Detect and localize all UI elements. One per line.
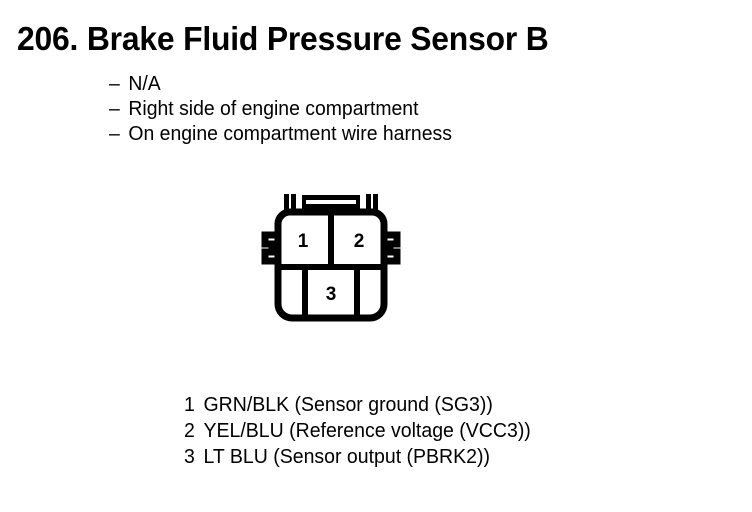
connector-top-ring-lower-bar: [302, 204, 360, 209]
description-item: –N/A: [109, 72, 652, 97]
description-item-label: Right side of engine compartment: [128, 98, 418, 120]
connector-bottom-divider-left: [302, 267, 308, 318]
connector-top-ring-left-edge: [302, 195, 306, 209]
connector-top-post-left: [284, 194, 289, 211]
description-item: –On engine compartment wire harness: [109, 122, 652, 147]
description-list: –N/A –Right side of engine compartment –…: [109, 72, 669, 147]
connector-pin-number-2: 2: [354, 231, 365, 252]
pin-legend-row: 2YEL/BLU (Reference voltage (VCC3)): [184, 418, 531, 444]
connector-top-divider: [328, 212, 334, 267]
connector-top-post-right-outer: [373, 194, 378, 211]
dash-bullet-icon: –: [109, 97, 128, 122]
connector-diagram: 1 2 3: [255, 190, 430, 338]
pin-legend: 1GRN/BLK (Sensor ground (SG3)) 2YEL/BLU …: [184, 392, 540, 470]
description-item-label: On engine compartment wire harness: [128, 123, 451, 145]
connector-top-ring-upper-bar: [302, 195, 360, 200]
pin-legend-row: 1GRN/BLK (Sensor ground (SG3)): [184, 392, 531, 418]
description-item-label: N/A: [128, 73, 160, 95]
description-item: –Right side of engine compartment: [109, 97, 652, 122]
pin-legend-text: GRN/BLK (Sensor ground (SG3)): [204, 394, 493, 416]
dash-bullet-icon: –: [109, 122, 128, 147]
pin-legend-number: 2: [184, 418, 204, 444]
pin-legend-row: 3LT BLU (Sensor output (PBRK2)): [184, 444, 531, 470]
pin-legend-text: LT BLU (Sensor output (PBRK2)): [204, 446, 490, 468]
connector-pin-number-1: 1: [298, 231, 309, 252]
connector-top-post-left-outer: [291, 194, 296, 211]
pin-legend-number: 3: [184, 444, 204, 470]
pin-legend-text: YEL/BLU (Reference voltage (VCC3)): [204, 420, 531, 442]
dash-bullet-icon: –: [109, 72, 128, 97]
connector-top-ring-right-edge: [356, 195, 360, 209]
page-title: 206. Brake Fluid Pressure Sensor B: [17, 20, 549, 58]
pin-legend-number: 1: [184, 392, 204, 418]
connector-top-post-right: [366, 194, 371, 211]
connector-pin-number-3: 3: [326, 284, 337, 305]
connector-bottom-divider-right: [354, 267, 360, 318]
